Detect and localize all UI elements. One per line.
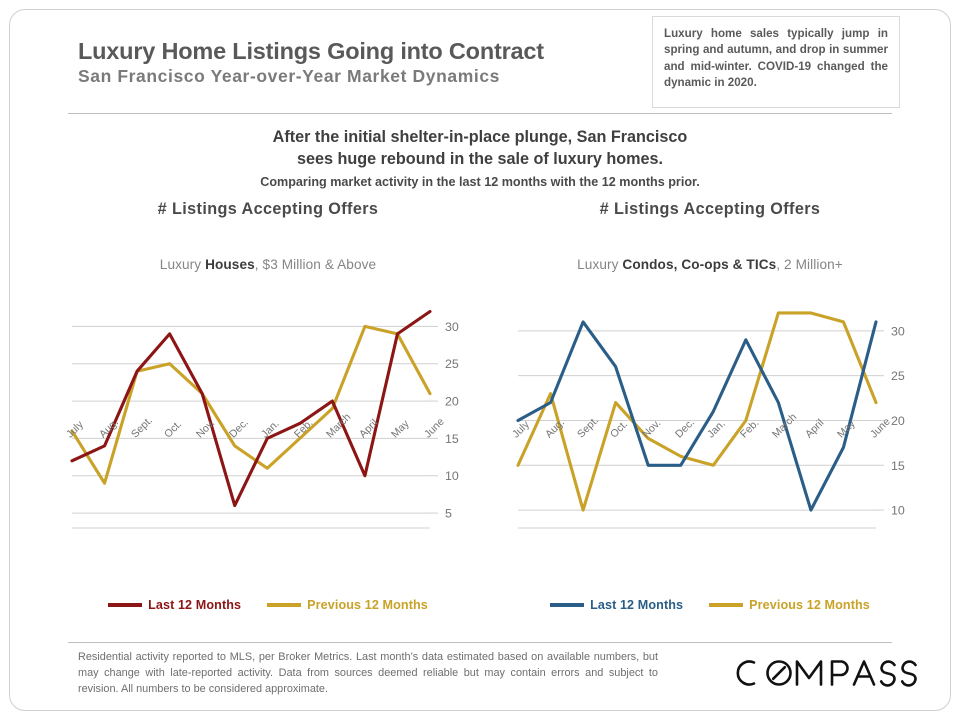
subtitle-bold-houses: Houses <box>205 257 255 272</box>
legend-swatch <box>709 603 743 606</box>
divider-bottom <box>68 642 892 643</box>
chart-subtitle-houses: Luxury Houses, $3 Million & Above <box>48 257 488 272</box>
headline-line-1: After the initial shelter-in-place plung… <box>80 126 880 148</box>
subtitle-suffix-houses: , $3 Million & Above <box>255 257 376 272</box>
x-axis-labels-condos: JulyAug.Sept.Oct.Nov.Dec.Jan.Feb.MarchAp… <box>490 428 930 484</box>
y-axis-tick-label: 30 <box>445 320 459 334</box>
y-axis-tick-label: 10 <box>891 504 905 518</box>
subtitle-prefix-houses: Luxury <box>160 257 205 272</box>
legend-item: Last 12 Months <box>108 598 241 612</box>
chart-subtitle-condos: Luxury Condos, Co-ops & TICs, 2 Million+ <box>490 257 930 272</box>
compass-logo-icon <box>728 653 918 693</box>
subtitle-prefix-condos: Luxury <box>577 257 622 272</box>
headline-line-2: sees huge rebound in the sale of luxury … <box>80 148 880 170</box>
y-axis-tick-label: 30 <box>891 324 905 338</box>
subtitle-suffix-condos: , 2 Million+ <box>776 257 843 272</box>
page-title: Luxury Home Listings Going into Contract <box>78 38 638 64</box>
callout-text: Luxury home sales typically jump in spri… <box>664 26 888 92</box>
legend-item: Last 12 Months <box>550 598 683 612</box>
chart-panel-houses: # Listings Accepting Offers Luxury House… <box>48 200 488 640</box>
legend-label: Previous 12 Months <box>749 598 870 612</box>
legend-item: Previous 12 Months <box>709 598 870 612</box>
subtitle-bold-condos: Condos, Co-ops & TICs <box>622 257 776 272</box>
y-axis-tick-label: 25 <box>445 357 459 371</box>
chart-title-houses: # Listings Accepting Offers <box>48 200 488 219</box>
page-subtitle: San Francisco Year-over-Year Market Dyna… <box>78 66 638 86</box>
y-axis-tick-label: 5 <box>445 507 452 521</box>
legend-swatch <box>108 603 142 606</box>
legend-label: Last 12 Months <box>148 598 241 612</box>
headline-line-3: Comparing market activity in the last 12… <box>80 174 880 190</box>
y-axis-tick-label: 20 <box>891 414 905 428</box>
x-axis-labels-houses: JulyAug.Sept.Oct.Nov.Dec.Jan.Feb.MarchAp… <box>48 428 488 484</box>
divider-top <box>68 113 892 114</box>
slide-root: Luxury Home Listings Going into Contract… <box>0 0 960 720</box>
legend-label: Last 12 Months <box>590 598 683 612</box>
title-block: Luxury Home Listings Going into Contract… <box>78 38 638 86</box>
y-axis-tick-label: 20 <box>445 395 459 409</box>
chart-legend-condos: Last 12 MonthsPrevious 12 Months <box>490 598 930 612</box>
chart-title-condos: # Listings Accepting Offers <box>490 200 930 219</box>
chart-legend-houses: Last 12 MonthsPrevious 12 Months <box>48 598 488 612</box>
callout-box: Luxury home sales typically jump in spri… <box>652 16 900 108</box>
chart-panel-condos: # Listings Accepting Offers Luxury Condo… <box>490 200 930 640</box>
footnote-text: Residential activity reported to MLS, pe… <box>78 650 658 697</box>
y-axis-tick-label: 25 <box>891 369 905 383</box>
legend-item: Previous 12 Months <box>267 598 428 612</box>
headline-block: After the initial shelter-in-place plung… <box>80 126 880 190</box>
legend-swatch <box>267 603 301 606</box>
legend-label: Previous 12 Months <box>307 598 428 612</box>
compass-logo <box>728 653 918 693</box>
legend-swatch <box>550 603 584 606</box>
